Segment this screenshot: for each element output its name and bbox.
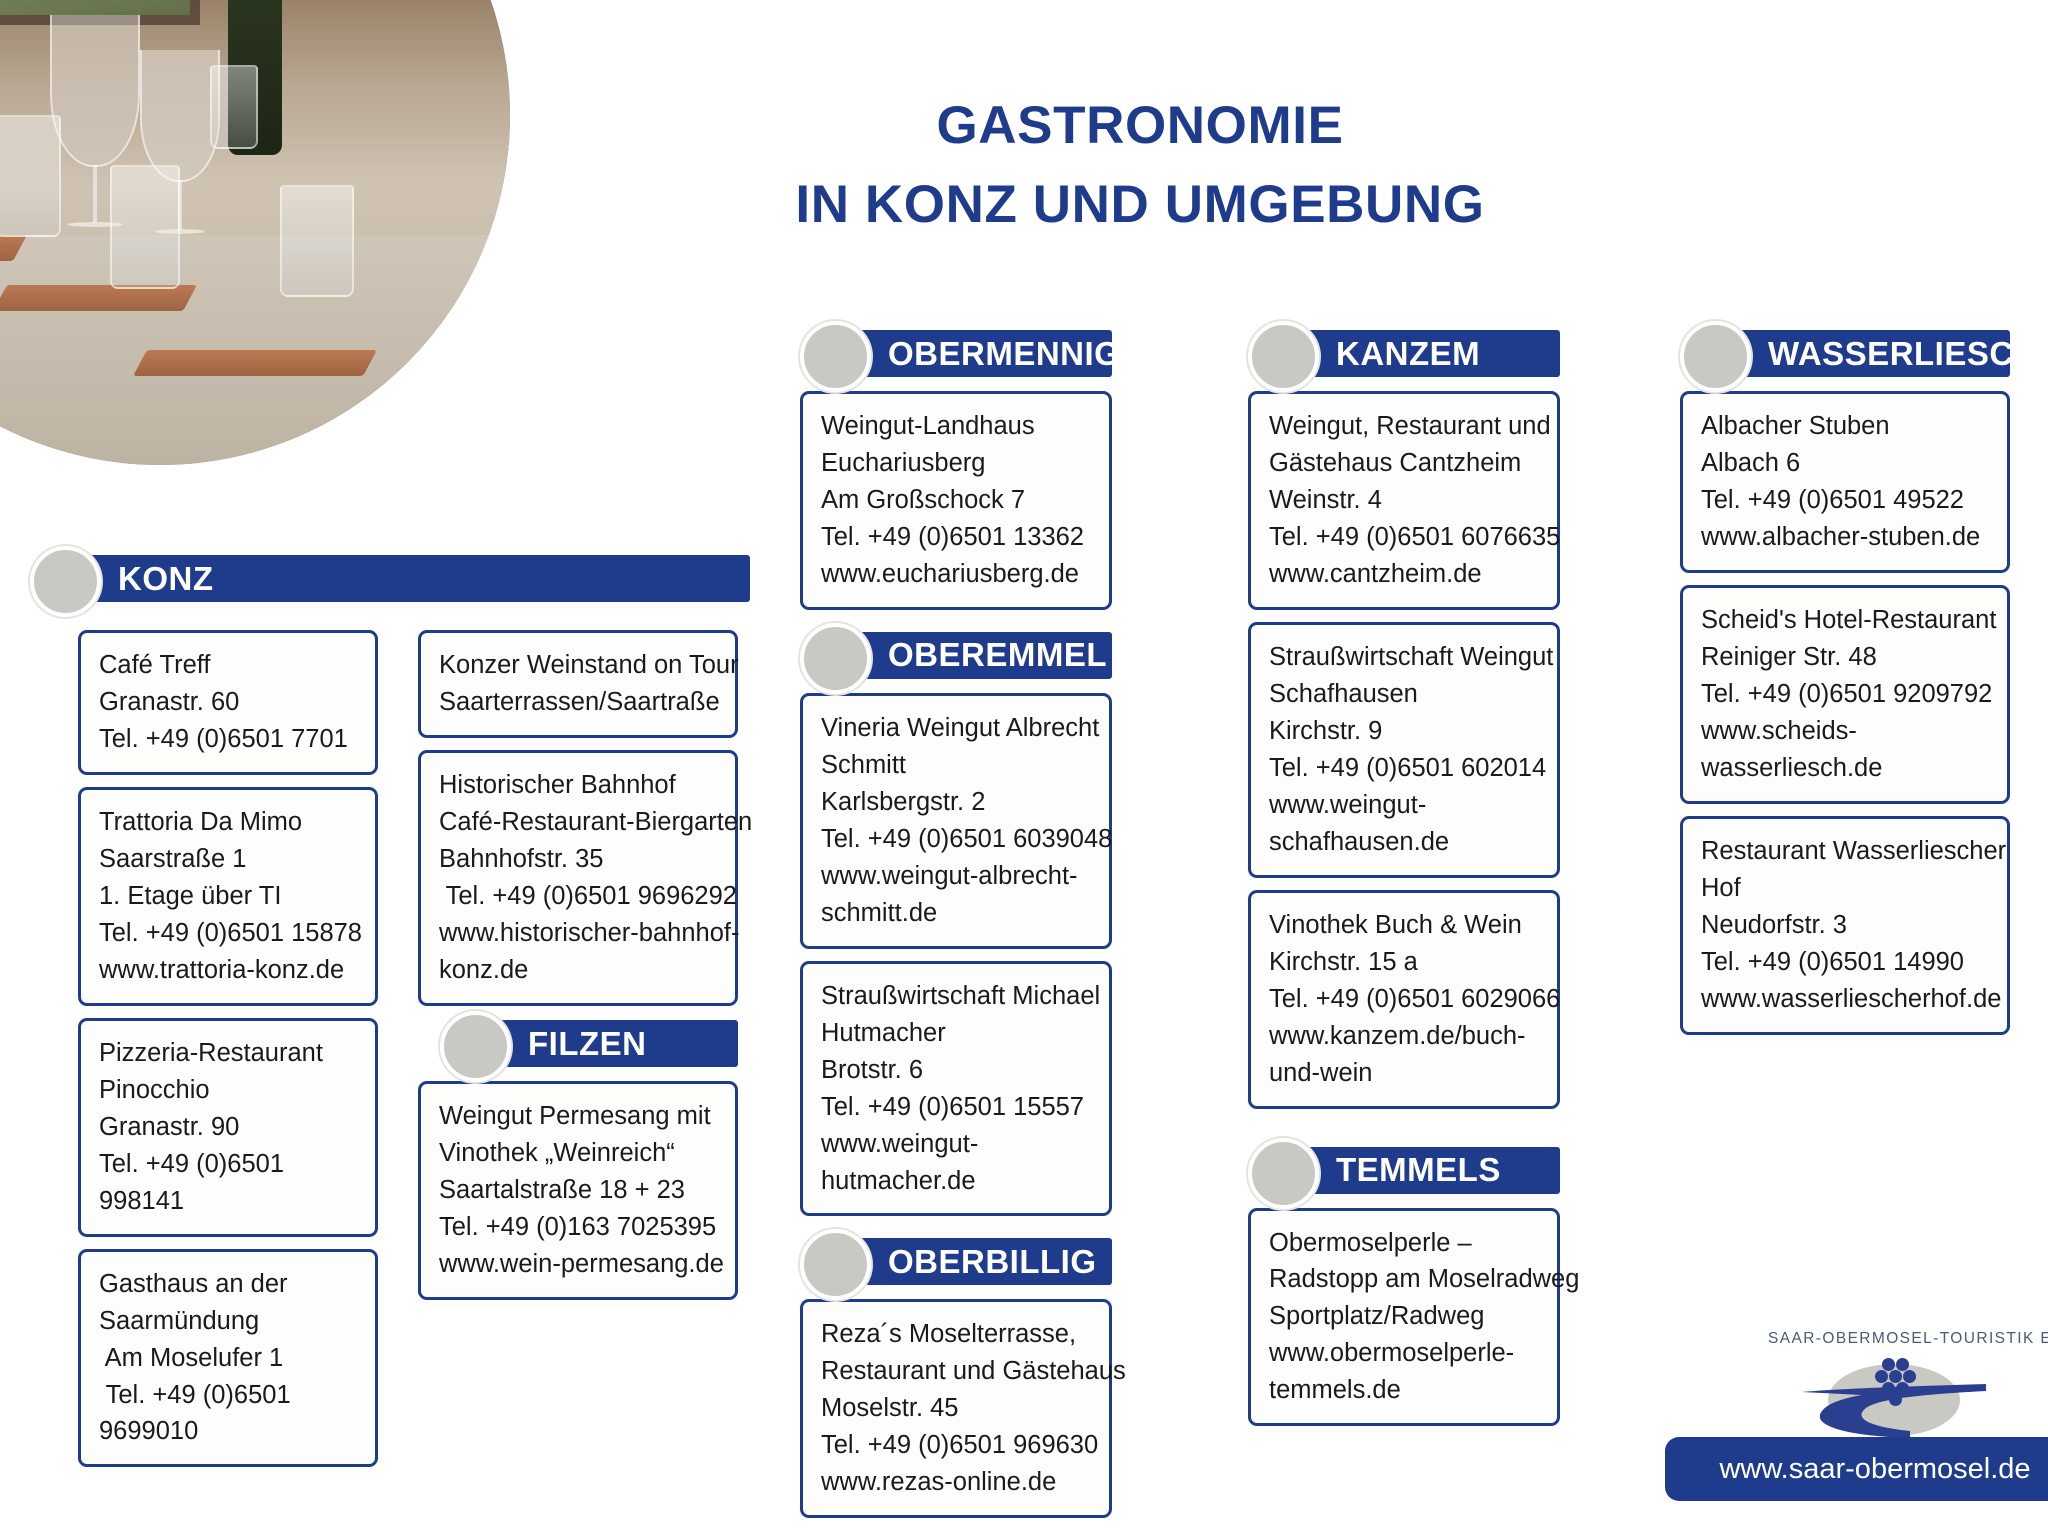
- section-header-kanzem: KANZEM: [1248, 330, 1560, 377]
- listing-card: Reza´s Moselterrasse,Restaurant und Gäst…: [800, 1299, 1112, 1518]
- title-line-2: IN KONZ UND UMGEBUNG: [700, 174, 1580, 237]
- column-wasserliesch: WASSERLIESCHAlbacher StubenAlbach 6Tel. …: [1680, 330, 2010, 1047]
- listing-card: Gasthaus an derSaarmündung Am Moselufer …: [78, 1249, 378, 1468]
- listing-line: schafhausen.de: [1269, 824, 1541, 861]
- listing-line: Saarterrassen/Saartraße: [439, 684, 719, 721]
- listing-line: Albacher Stuben: [1701, 408, 1991, 445]
- listing-line: Albach 6: [1701, 445, 1991, 482]
- listing-line: Tel. +49 (0)6501 9696292: [439, 878, 719, 915]
- listing-line: Am Moselufer 1: [99, 1340, 359, 1377]
- listing-line: Weingut-Landhaus: [821, 408, 1093, 445]
- logo-organisation-name: SAAR-OBERMOSEL-TOURISTIK E.V.: [1768, 1330, 2010, 1348]
- bullet-circle-icon: [1680, 321, 1751, 392]
- listing-line: Weingut, Restaurant und: [1269, 408, 1541, 445]
- listing-card: Scheid's Hotel-RestaurantReiniger Str. 4…: [1680, 585, 2010, 804]
- listing-line: Weingut Permesang mit: [439, 1098, 719, 1135]
- listing-line: Kirchstr. 9: [1269, 713, 1541, 750]
- listing-line: Saartalstraße 18 + 23: [439, 1172, 719, 1209]
- listing-card: Vineria Weingut AlbrechtSchmittKarlsberg…: [800, 693, 1112, 949]
- listing-line: Am Großschock 7: [821, 482, 1093, 519]
- listing-line: Straußwirtschaft Michael: [821, 978, 1093, 1015]
- listing-line: Tel. +49 (0)6501 49522: [1701, 482, 1991, 519]
- listing-line: www.wein-permesang.de: [439, 1246, 719, 1283]
- listing-line: Tel. +49 (0)6501: [99, 1377, 359, 1414]
- listing-line: und-wein: [1269, 1055, 1541, 1092]
- listing-line: Moselstr. 45: [821, 1390, 1093, 1427]
- listing-line: www.weingut-: [1269, 787, 1541, 824]
- listing-line: Schmitt: [821, 747, 1093, 784]
- listing-line: Tel. +49 (0)163 7025395: [439, 1209, 719, 1246]
- listing-line: Restaurant Wasserliescher: [1701, 833, 1991, 870]
- section-header-oberbillig: OBERBILLIG: [800, 1238, 1112, 1285]
- listing-line: Radstopp am Moselradweg: [1269, 1261, 1541, 1298]
- listing-card: Pizzeria-RestaurantPinocchioGranastr. 90…: [78, 1018, 378, 1237]
- listing-card: Obermoselperle –Radstopp am MoselradwegS…: [1248, 1208, 1560, 1427]
- listing-line: wasserliesch.de: [1701, 750, 1991, 787]
- listing-line: Konzer Weinstand on Tour: [439, 647, 719, 684]
- listing-line: Restaurant und Gästehaus: [821, 1353, 1093, 1390]
- listing-line: www.weingut-albrecht-: [821, 858, 1093, 895]
- listing-line: Pizzeria-Restaurant: [99, 1035, 359, 1072]
- listing-card: Historischer BahnhofCafé-Restaurant-Bier…: [418, 750, 738, 1006]
- section-label-oberbillig: OBERBILLIG: [888, 1243, 1097, 1281]
- listing-line: Café Treff: [99, 647, 359, 684]
- listing-line: www.albacher-stuben.de: [1701, 519, 1991, 556]
- listing-line: www.cantzheim.de: [1269, 556, 1541, 593]
- listing-line: 9699010: [99, 1413, 359, 1450]
- column-obermennig-oberemmel-oberbillig: OBERMENNIGWeingut-LandhausEuchariusbergA…: [800, 330, 1112, 1530]
- listing-line: 1. Etage über TI: [99, 878, 359, 915]
- listing-line: Granastr. 60: [99, 684, 359, 721]
- listing-line: www.euchariusberg.de: [821, 556, 1093, 593]
- listing-card: Restaurant WasserliescherHofNeudorfstr. …: [1680, 816, 2010, 1035]
- listing-card: Vinothek Buch & WeinKirchstr. 15 aTel. +…: [1248, 890, 1560, 1109]
- section-label-wasserliesch: WASSERLIESCH: [1768, 335, 2038, 373]
- listing-line: Vinothek Buch & Wein: [1269, 907, 1541, 944]
- listing-line: Tel. +49 (0)6501 6029066: [1269, 981, 1541, 1018]
- listing-line: Hof: [1701, 870, 1991, 907]
- organisation-logo: SAAR-OBERMOSEL-TOURISTIK E.V.: [1780, 1330, 2010, 1442]
- listing-line: www.rezas-online.de: [821, 1464, 1093, 1501]
- listing-line: hutmacher.de: [821, 1163, 1093, 1200]
- restaurant-table-photo: [0, 0, 510, 465]
- section-header-temmels: TEMMELS: [1248, 1147, 1560, 1194]
- listing-line: www.obermoselperle-: [1269, 1335, 1541, 1372]
- section-label-kanzem: KANZEM: [1336, 335, 1480, 373]
- listing-line: Straußwirtschaft Weingut: [1269, 639, 1541, 676]
- column-konz-right: Konzer Weinstand on TourSaarterrassen/Sa…: [418, 630, 738, 1018]
- listing-line: Tel. +49 (0)6501 6076635: [1269, 519, 1541, 556]
- listing-line: Hutmacher: [821, 1015, 1093, 1052]
- listing-line: Tel. +49 (0)6501 15557: [821, 1089, 1093, 1126]
- listing-line: Granastr. 90: [99, 1109, 359, 1146]
- listing-line: Saarstraße 1: [99, 841, 359, 878]
- listing-line: Tel. +49 (0)6501 15878: [99, 915, 359, 952]
- listing-line: Tel. +49 (0)6501 9209792: [1701, 676, 1991, 713]
- listing-line: 998141: [99, 1183, 359, 1220]
- listing-line: www.historischer-bahnhof-: [439, 915, 719, 952]
- section-label-oberemmel: OBEREMMEL: [888, 636, 1107, 674]
- listing-line: Kirchstr. 15 a: [1269, 944, 1541, 981]
- page-title: GASTRONOMIE IN KONZ UND UMGEBUNG: [700, 95, 1580, 236]
- listing-line: Tel. +49 (0)6501 969630: [821, 1427, 1093, 1464]
- listing-line: www.weingut-: [821, 1126, 1093, 1163]
- listing-line: Neudorfstr. 3: [1701, 907, 1991, 944]
- column-kanzem-temmels: KANZEMWeingut, Restaurant undGästehaus C…: [1248, 330, 1560, 1438]
- bullet-circle-icon: [800, 321, 871, 392]
- listing-card: Café TreffGranastr. 60Tel. +49 (0)6501 7…: [78, 630, 378, 775]
- section-header-obermennig: OBERMENNIG: [800, 330, 1112, 377]
- listing-line: Café-Restaurant-Biergarten: [439, 804, 719, 841]
- bullet-circle-icon: [800, 623, 871, 694]
- listing-line: Tel. +49 (0)6501: [99, 1146, 359, 1183]
- listing-card: Weingut Permesang mitVinothek „Weinreich…: [418, 1081, 738, 1300]
- listing-line: konz.de: [439, 952, 719, 989]
- listing-line: Saarmündung: [99, 1303, 359, 1340]
- section-label-temmels: TEMMELS: [1336, 1151, 1501, 1189]
- title-line-1: GASTRONOMIE: [700, 95, 1580, 158]
- listing-line: Vineria Weingut Albrecht: [821, 710, 1093, 747]
- bullet-circle-icon: [440, 1011, 511, 1082]
- listing-line: Trattoria Da Mimo: [99, 804, 359, 841]
- listing-line: Vinothek „Weinreich“: [439, 1135, 719, 1172]
- listing-line: Euchariusberg: [821, 445, 1093, 482]
- listing-line: www.trattoria-konz.de: [99, 952, 359, 989]
- section-label-konz: KONZ: [118, 560, 214, 598]
- section-label-filzen: FILZEN: [528, 1025, 646, 1063]
- listing-card: Weingut-LandhausEuchariusbergAm Großscho…: [800, 391, 1112, 610]
- listing-line: www.wasserliescherhof.de: [1701, 981, 1991, 1018]
- listing-line: Pinocchio: [99, 1072, 359, 1109]
- river-swoosh-icon: [1800, 1378, 1990, 1442]
- listing-card: Straußwirtschaft MichaelHutmacherBrotstr…: [800, 961, 1112, 1217]
- listing-line: Reza´s Moselterrasse,: [821, 1316, 1093, 1353]
- bullet-circle-icon: [30, 546, 101, 617]
- section-header-oberemmel: OBEREMMEL: [800, 632, 1112, 679]
- listing-line: Tel. +49 (0)6501 7701: [99, 721, 359, 758]
- listing-line: Gästehaus Cantzheim: [1269, 445, 1541, 482]
- listing-line: Brotstr. 6: [821, 1052, 1093, 1089]
- listing-line: Sportplatz/Radweg: [1269, 1298, 1541, 1335]
- listing-card: Weingut, Restaurant undGästehaus Cantzhe…: [1248, 391, 1560, 610]
- logo-mark-icon: [1800, 1352, 1990, 1442]
- bullet-circle-icon: [1248, 1138, 1319, 1209]
- listing-line: Bahnhofstr. 35: [439, 841, 719, 878]
- listing-line: Tel. +49 (0)6501 6039048: [821, 821, 1093, 858]
- column-konz-left: Café TreffGranastr. 60Tel. +49 (0)6501 7…: [78, 630, 378, 1479]
- website-footer-bar[interactable]: www.saar-obermosel.de: [1665, 1437, 2048, 1501]
- listing-line: Historischer Bahnhof: [439, 767, 719, 804]
- listing-line: Tel. +49 (0)6501 602014: [1269, 750, 1541, 787]
- listing-line: Weinstr. 4: [1269, 482, 1541, 519]
- listing-line: Reiniger Str. 48: [1701, 639, 1991, 676]
- listing-line: temmels.de: [1269, 1372, 1541, 1409]
- listing-line: Tel. +49 (0)6501 13362: [821, 519, 1093, 556]
- website-url: www.saar-obermosel.de: [1719, 1453, 2030, 1486]
- section-header-konz: KONZ: [30, 555, 750, 602]
- listing-line: Tel. +49 (0)6501 14990: [1701, 944, 1991, 981]
- bullet-circle-icon: [1248, 321, 1319, 392]
- listing-line: www.scheids-: [1701, 713, 1991, 750]
- listing-card: Albacher StubenAlbach 6Tel. +49 (0)6501 …: [1680, 391, 2010, 573]
- brochure-page: GASTRONOMIE IN KONZ UND UMGEBUNG KONZ Ca…: [0, 0, 2048, 1538]
- listing-card: Konzer Weinstand on TourSaarterrassen/Sa…: [418, 630, 738, 738]
- listing-line: schmitt.de: [821, 895, 1093, 932]
- listing-line: Karlsbergstr. 2: [821, 784, 1093, 821]
- listing-line: www.kanzem.de/buch-: [1269, 1018, 1541, 1055]
- section-label-obermennig: OBERMENNIG: [888, 335, 1120, 373]
- listing-line: Gasthaus an der: [99, 1266, 359, 1303]
- listing-line: Scheid's Hotel-Restaurant: [1701, 602, 1991, 639]
- listing-card: Trattoria Da MimoSaarstraße 11. Etage üb…: [78, 787, 378, 1006]
- listing-card: Straußwirtschaft WeingutSchafhausenKirch…: [1248, 622, 1560, 878]
- section-header-wasserliesch: WASSERLIESCH: [1680, 330, 2010, 377]
- listing-line: Schafhausen: [1269, 676, 1541, 713]
- section-filzen: FILZEN Weingut Permesang mitVinothek „We…: [418, 1020, 738, 1312]
- bullet-circle-icon: [800, 1229, 871, 1300]
- listing-line: Obermoselperle –: [1269, 1225, 1541, 1262]
